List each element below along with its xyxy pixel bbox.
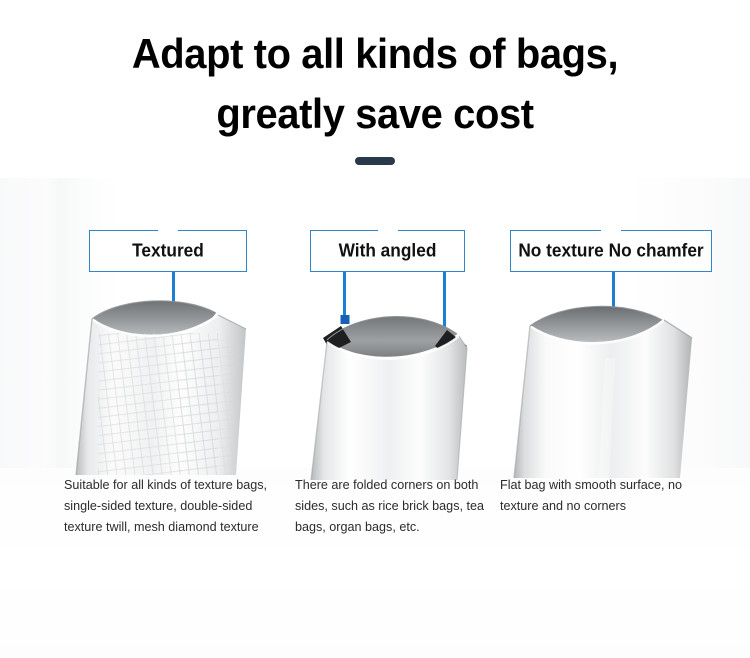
banner-header: Adapt to all kinds of bags, greatly save… <box>0 0 750 165</box>
feature-caption-no-texture: Flat bag with smooth surface, no texture… <box>500 475 710 517</box>
page-title-line-2: greatly save cost <box>19 84 732 144</box>
label-box-notch <box>158 228 178 233</box>
feature-label-box-textured[interactable]: Textured <box>89 230 247 272</box>
bag-image-textured <box>58 295 273 475</box>
feature-label-no-texture: No texture No chamfer <box>515 241 707 262</box>
feature-label-box-with-angled[interactable]: With angled <box>310 230 465 272</box>
feature-caption-with-angled: There are folded corners on both sides, … <box>295 475 490 537</box>
feature-label-with-angled: With angled <box>314 241 461 262</box>
promo-banner: Adapt to all kinds of bags, greatly save… <box>0 0 750 658</box>
label-box-notch <box>601 228 621 233</box>
page-title-line-1: Adapt to all kinds of bags, <box>19 24 732 84</box>
feature-label-box-no-texture[interactable]: No texture No chamfer <box>510 230 712 272</box>
label-box-notch <box>378 228 398 233</box>
bag-image-no-texture <box>500 298 715 478</box>
background-band-bottom <box>0 568 750 658</box>
title-divider <box>355 157 395 165</box>
feature-label-textured: Textured <box>93 241 243 262</box>
feature-caption-textured: Suitable for all kinds of texture bags, … <box>64 475 274 537</box>
bag-image-with-angled <box>297 300 487 480</box>
